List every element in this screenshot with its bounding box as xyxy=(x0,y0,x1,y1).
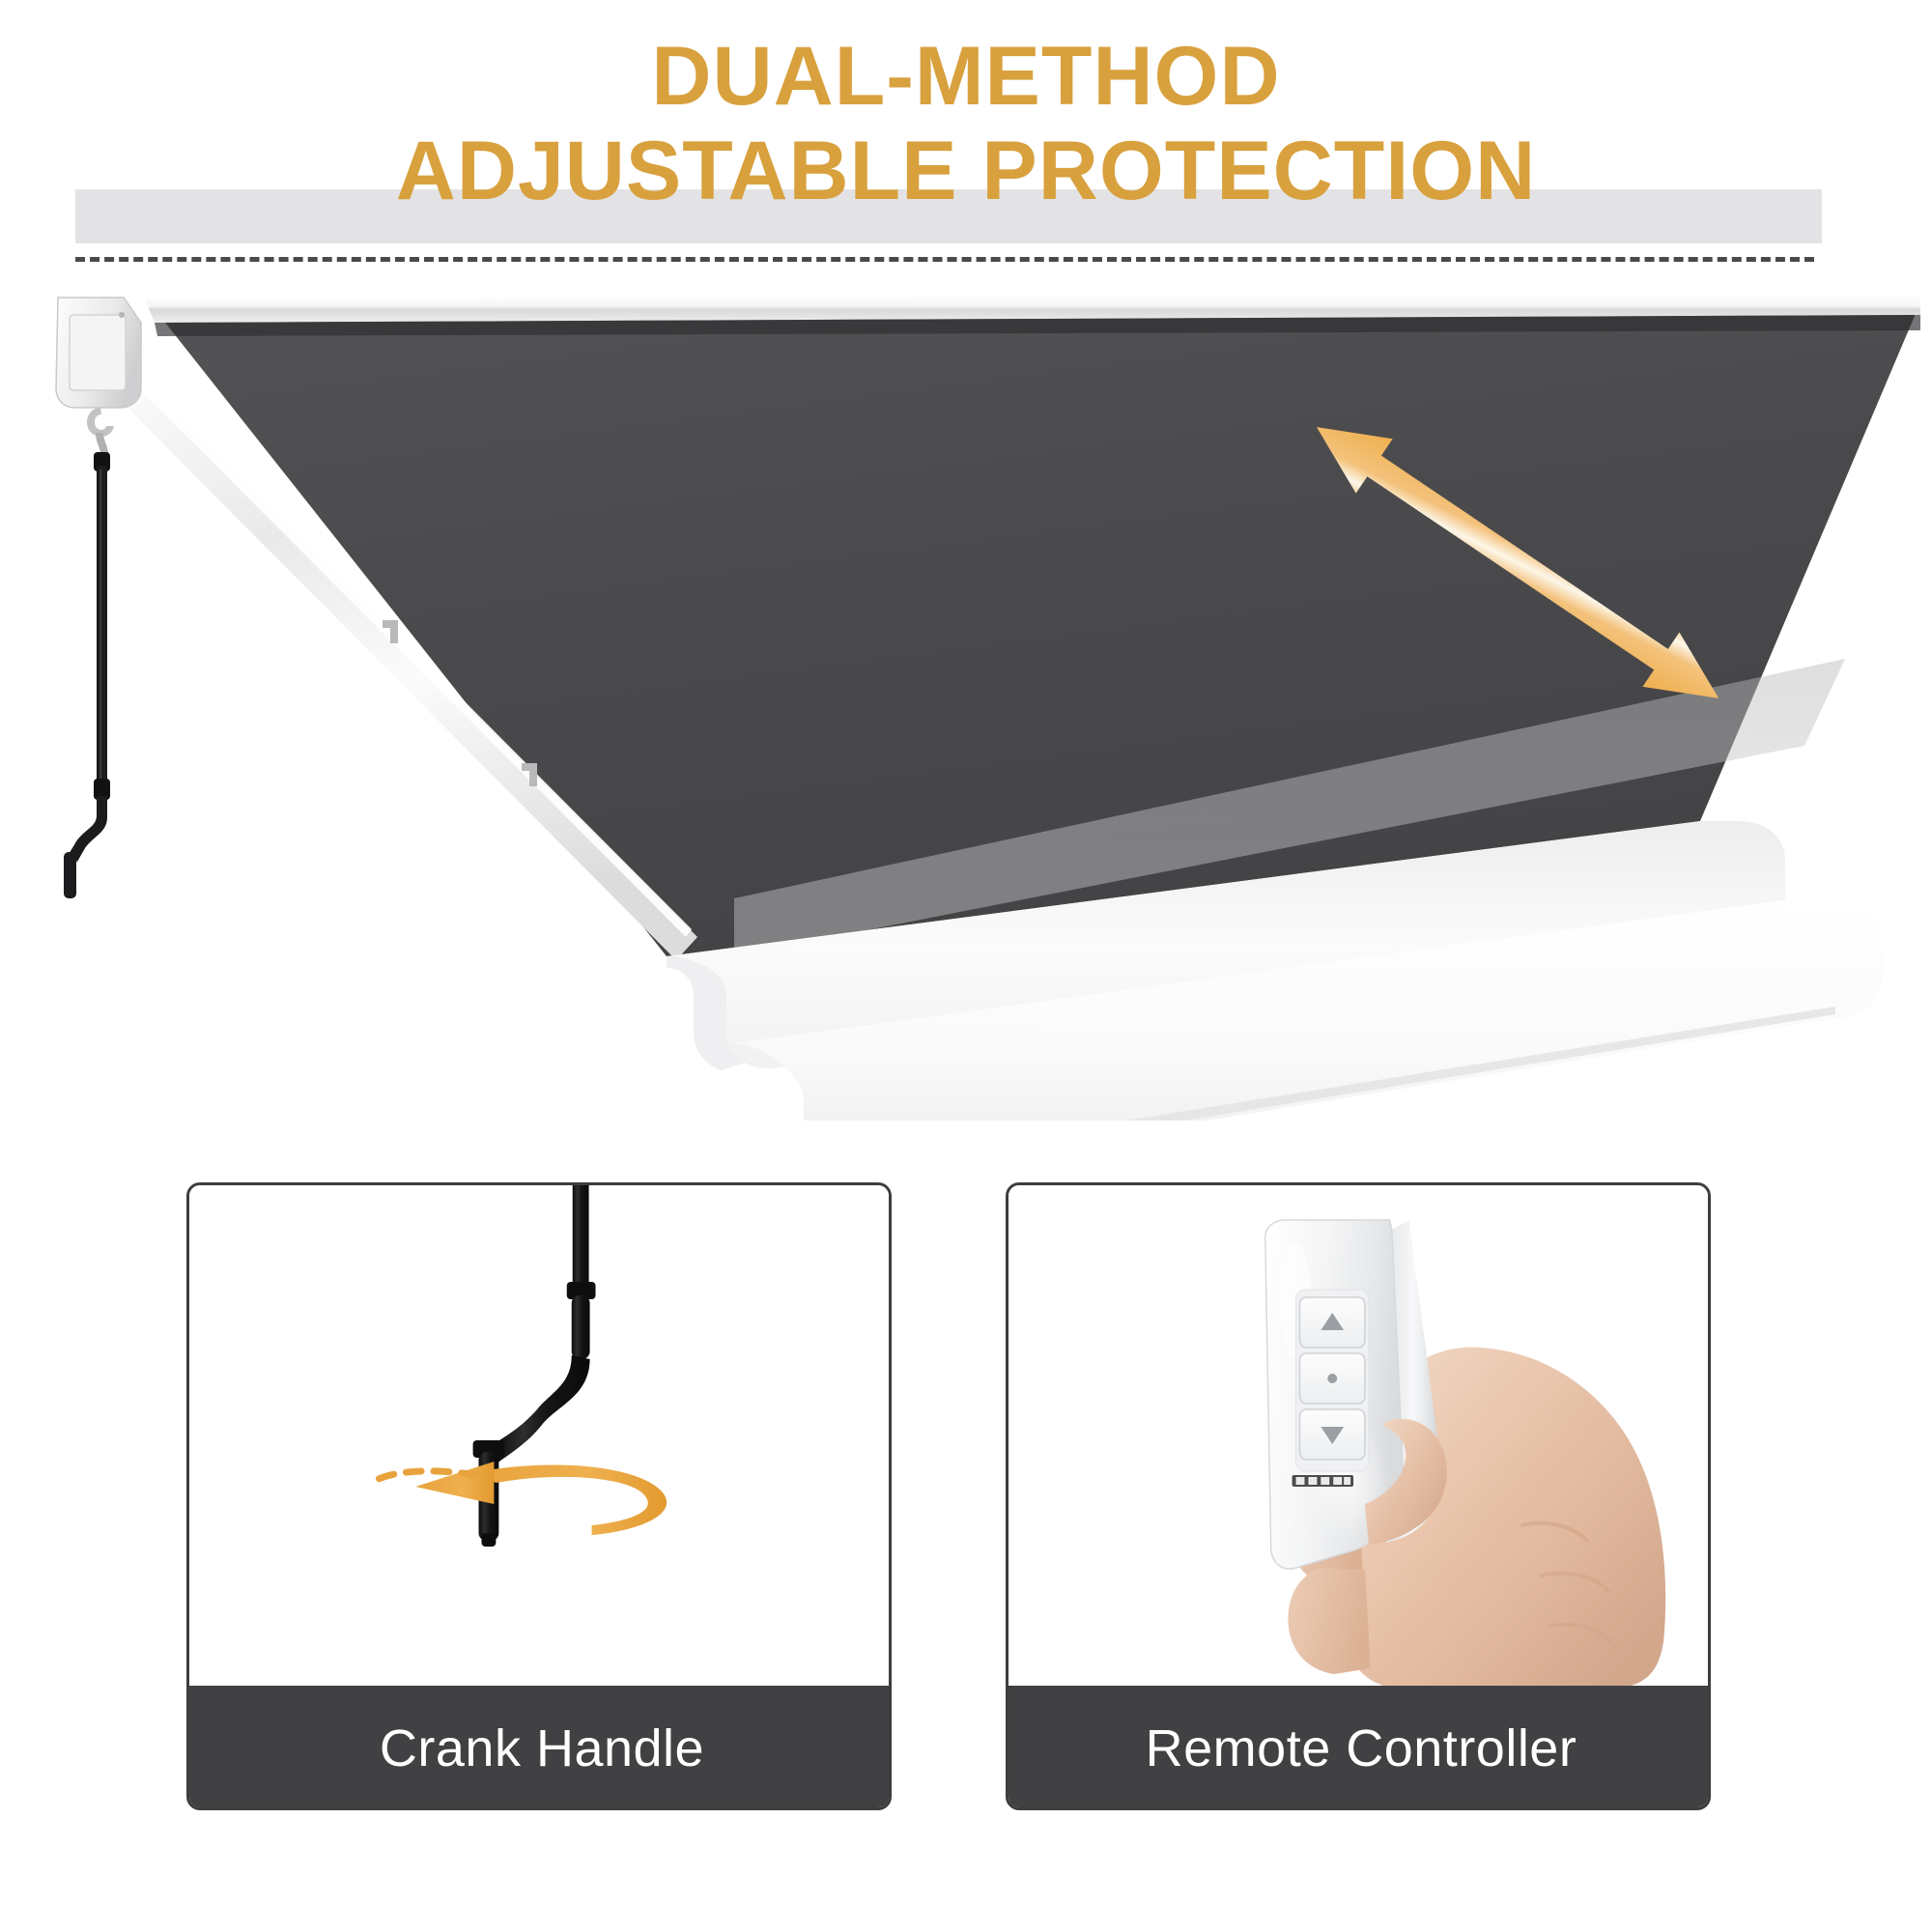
hand-finger-ring xyxy=(1288,1568,1371,1674)
rotation-arrow xyxy=(477,1465,668,1535)
crank-rod-s-bend xyxy=(494,1355,589,1465)
down-button[interactable] xyxy=(1300,1409,1365,1460)
crank-hook xyxy=(87,408,114,437)
remote-controller-illustration xyxy=(1009,1185,1708,1691)
header-dashed-divider xyxy=(75,257,1814,262)
crank-hook-tip xyxy=(96,433,108,454)
crank-handle-caption-text: Crank Handle xyxy=(380,1722,704,1775)
rotation-arrow-head xyxy=(415,1462,494,1504)
awning-bracket-plate xyxy=(70,315,126,390)
page-title-line1: DUAL-METHOD xyxy=(651,30,1280,123)
awning-bracket-screw xyxy=(119,312,125,318)
crank-rod-shaft-highlight xyxy=(99,469,102,779)
crank-rod-mid xyxy=(572,1295,590,1359)
crank-rod-grip-cap xyxy=(481,1533,496,1547)
product-feature-image: DUAL-METHOD ADJUSTABLE PROTECTION xyxy=(0,0,1932,1932)
up-button[interactable] xyxy=(1300,1297,1365,1348)
crank-handle-caption: Crank Handle xyxy=(186,1686,892,1810)
feature-panel-crank-handle[interactable]: Crank Handle xyxy=(186,1182,892,1810)
remote-led-strip xyxy=(1293,1475,1353,1487)
crank-rod-bend xyxy=(68,796,107,862)
crank-rod-upper xyxy=(573,1185,589,1293)
crank-rod-grip xyxy=(64,852,76,898)
remote-controller-caption-text: Remote Controller xyxy=(1146,1722,1577,1775)
crank-handle-illustration xyxy=(189,1185,889,1691)
stop-button[interactable] xyxy=(1300,1353,1365,1404)
hero-awning-illustration xyxy=(0,280,1932,1121)
feature-panel-remote-controller[interactable]: Remote Controller xyxy=(1006,1182,1711,1810)
remote-controller-caption: Remote Controller xyxy=(1006,1686,1711,1810)
page-title: DUAL-METHOD ADJUSTABLE PROTECTION xyxy=(0,29,1932,218)
page-title-line2: ADJUSTABLE PROTECTION xyxy=(0,124,1932,218)
